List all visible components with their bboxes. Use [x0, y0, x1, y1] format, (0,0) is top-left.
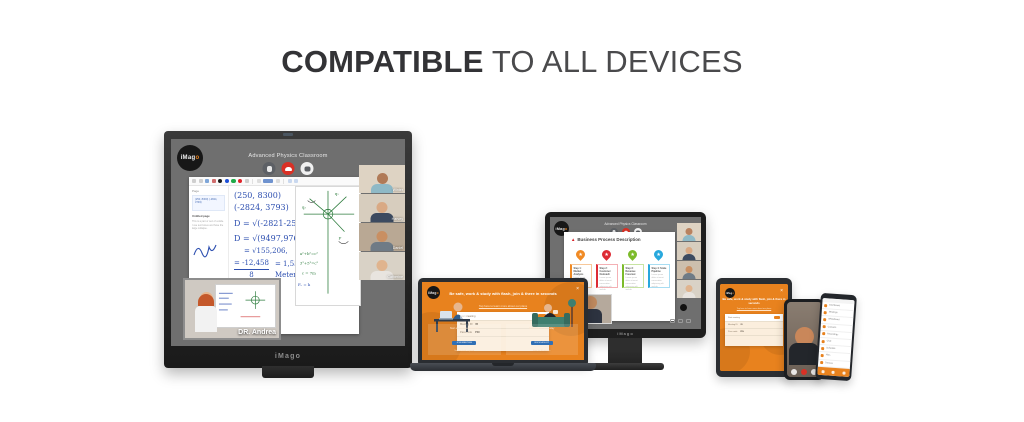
- promo-page[interactable]: iMago × Be safe, work & study with flash…: [720, 284, 788, 371]
- pages-label: Page: [192, 189, 225, 193]
- calls-icon[interactable]: [832, 370, 835, 373]
- search-row[interactable]: Start meeting: [725, 314, 783, 322]
- list-item-label: Recordings: [827, 333, 838, 336]
- page-title: COMPATIBLE TO ALL DEVICES: [0, 44, 1024, 80]
- laptop-lid: iMago × Be safe, work & study with flash…: [418, 278, 588, 364]
- list-item-label: Files: [826, 355, 831, 357]
- toolbar-divider-2: [283, 179, 284, 184]
- passcode-value: PIN: [740, 331, 743, 333]
- laptop-screen[interactable]: iMago × Be safe, work & study with flash…: [422, 282, 584, 360]
- meeting-form[interactable]: Start meeting Meeting ID ID Pass code PI…: [725, 314, 783, 346]
- step-heading: Step 2: Customer Outreach: [600, 267, 615, 276]
- process-step[interactable]: ★ Step 4: Scale Pipeline Lorem ipsum dol…: [648, 248, 670, 288]
- select-icon[interactable]: [192, 179, 196, 183]
- display-meeting-title: Advanced Physics Classroom: [171, 153, 405, 159]
- svg-text:q₂: q₂: [302, 204, 306, 209]
- display-camera-icon: [283, 133, 293, 136]
- caller-figure: [789, 327, 819, 365]
- svg-text:c = 7m: c = 7m: [302, 270, 316, 275]
- cta-note: No download required: [431, 350, 498, 352]
- note-line-6: = -12,458: [234, 258, 269, 269]
- participant-name: Daniel: [393, 246, 403, 250]
- cta-card[interactable]: Schedule for later today BOOK A SLOT Fre…: [506, 324, 579, 355]
- monitor-brand-text: iMago: [617, 331, 634, 336]
- monitor-stand: [608, 337, 642, 365]
- tablet-screen[interactable]: iMago × Be safe, work & study with flash…: [720, 284, 788, 371]
- color-black-icon[interactable]: [218, 179, 222, 183]
- slide-title: ▲Business Process Description: [564, 232, 675, 242]
- page-title-light: TO ALL DEVICES: [484, 44, 743, 79]
- color-blue-icon[interactable]: [225, 179, 229, 183]
- list-item-label: Whiteboard: [828, 319, 839, 322]
- display-screen[interactable]: iMago Advanced Physics Classroom: [171, 139, 405, 346]
- presenter-name: DR. Andrea: [238, 329, 276, 336]
- brand-logo-text: iMag: [556, 227, 565, 231]
- presenter-board: [215, 284, 276, 328]
- list-item-label: Contacts: [828, 326, 837, 329]
- participant-tile[interactable]: Harvey: [359, 194, 405, 222]
- copy-icon[interactable]: [294, 179, 298, 183]
- step-pin-icon: ★: [597, 245, 615, 263]
- item-icon: [821, 354, 824, 357]
- participant-name: Winter: [393, 188, 403, 192]
- brand-logo-accent: o: [565, 227, 568, 231]
- step-pin-icon: ★: [649, 245, 667, 263]
- display-brand-footer: iMago: [171, 348, 405, 364]
- list-item-label: Dashboard: [829, 305, 840, 308]
- cta-button[interactable]: JOIN MEETING: [452, 341, 476, 345]
- meeting-id-label: Meeting ID: [728, 324, 738, 326]
- list-item-label: Meetings: [829, 312, 838, 315]
- whiteboard-toolbar[interactable]: [189, 177, 359, 186]
- presenter-figure: [193, 292, 219, 338]
- promo-headline: Be safe, work & study with flash, join &…: [720, 297, 788, 305]
- page-title-strong: COMPATIBLE: [281, 44, 483, 79]
- phone-list-device[interactable]: Dashboard Meetings Whiteboard Contacts R…: [815, 293, 857, 381]
- monitor-participant-rail[interactable]: [677, 223, 701, 299]
- page-hint: This is a part or text of a slide. I use…: [192, 220, 225, 231]
- page-thumbnail[interactable]: (250, 8300) (-2824, 3793): [192, 195, 225, 211]
- item-icon: [823, 325, 826, 328]
- participant-tile[interactable]: Daniel: [359, 223, 405, 251]
- end-call-icon[interactable]: [282, 162, 295, 175]
- end-call-icon[interactable]: [801, 369, 807, 375]
- toolbar-divider: [252, 179, 253, 184]
- link-icon[interactable]: [199, 179, 203, 183]
- microphone-icon[interactable]: [263, 162, 276, 175]
- participant-tile[interactable]: [677, 280, 701, 298]
- item-icon: [822, 340, 825, 343]
- svg-text:q₁: q₁: [335, 191, 339, 196]
- participant-tile[interactable]: Catherine: [359, 252, 405, 280]
- item-icon: [821, 347, 824, 350]
- participant-rail[interactable]: Winter Harvey Daniel Catherine: [359, 165, 405, 281]
- svg-text:F: F: [339, 235, 342, 240]
- cta-card[interactable]: Start a secure session now JOIN MEETING …: [428, 324, 501, 355]
- page-name[interactable]: Untitled page: [192, 214, 225, 218]
- item-icon: [824, 304, 827, 307]
- cta-button[interactable]: BOOK A SLOT: [531, 341, 553, 345]
- marker-icon[interactable]: [212, 179, 216, 183]
- go-button[interactable]: [774, 316, 780, 319]
- tablet-device[interactable]: iMago × Be safe, work & study with flash…: [716, 278, 792, 377]
- display-stand: [262, 366, 314, 378]
- participant-tile[interactable]: [677, 223, 701, 241]
- attach-icon[interactable]: [288, 179, 292, 183]
- process-step[interactable]: ★ Step 2: Customer Outreach Lorem ipsum …: [596, 248, 618, 288]
- sidebar-sketch-icon: [192, 235, 228, 261]
- step-heading: Step 4: Scale Pipeline: [652, 267, 667, 273]
- step-body: Lorem ipsum dolor sit amet consectetur a…: [652, 274, 667, 289]
- brand-logo-text: iMag: [726, 292, 733, 295]
- more-icon[interactable]: [843, 371, 846, 374]
- cta-text: Schedule for later today: [509, 327, 576, 330]
- promo-sublink[interactable]: Tap here to learn more about our plans: [720, 308, 788, 310]
- meeting-id-value: ID: [741, 324, 743, 326]
- step-pin-icon: ★: [571, 245, 589, 263]
- logo-mark-icon: ▲: [571, 237, 575, 242]
- home-icon[interactable]: [821, 370, 824, 373]
- laptop-trackpad-notch: [492, 363, 514, 366]
- search-input[interactable]: Start meeting: [728, 317, 740, 319]
- participant-name: Harvey: [392, 217, 403, 221]
- record-indicator-icon: [680, 304, 687, 311]
- participant-tile[interactable]: [677, 261, 701, 279]
- cta-text: Start a secure session now: [431, 327, 498, 330]
- step-heading: Step 3: Revenue Forecast: [626, 267, 641, 276]
- monitor-toolbar[interactable]: [670, 319, 691, 323]
- display-call-controls[interactable]: [263, 162, 314, 175]
- step-body: Lorem ipsum dolor sit amet consectetur a…: [626, 277, 641, 292]
- share-icon[interactable]: [678, 319, 683, 323]
- more-icon[interactable]: [686, 319, 691, 323]
- passcode-label: Pass code: [728, 331, 737, 333]
- form-row[interactable]: Meeting ID ID: [725, 322, 783, 329]
- presenter-video-inset[interactable]: DR. Andrea: [183, 278, 281, 340]
- item-icon: [823, 318, 826, 321]
- participant-tile[interactable]: [677, 242, 701, 260]
- stroke-width-icon[interactable]: [263, 179, 273, 183]
- brand-logo-accent: o: [732, 292, 734, 295]
- color-red-icon[interactable]: [238, 179, 242, 183]
- list-item-label: Schedule: [826, 348, 835, 351]
- chat-icon[interactable]: [301, 162, 314, 175]
- item-icon: [822, 332, 825, 335]
- process-step[interactable]: ★ Step 3: Revenue Forecast Lorem ipsum d…: [622, 248, 644, 288]
- promo-canvas: COMPATIBLE TO ALL DEVICES iMago Advanced…: [0, 0, 1024, 422]
- svg-text:3²+5²=c²: 3²+5²=c²: [300, 261, 319, 266]
- board-sketch-icon: [216, 285, 275, 327]
- item-icon: [824, 311, 827, 314]
- form-row[interactable]: Pass code PIN: [725, 329, 783, 336]
- svg-text:Fₑ = k: Fₑ = k: [298, 282, 311, 287]
- vector-diagram-icon: q₁q₂ Fa²+b²=c² 3²+5²=c²c = 7m Fₑ = k: [296, 187, 360, 303]
- plus-icon[interactable]: [276, 179, 280, 183]
- promo-cta-group[interactable]: Start a secure session now JOIN MEETING …: [428, 324, 578, 355]
- participant-name: Catherine: [387, 275, 403, 279]
- close-icon[interactable]: ×: [780, 288, 783, 294]
- microphone-icon[interactable]: [791, 369, 797, 375]
- promo-page[interactable]: iMago × Be safe, work & study with flash…: [422, 282, 584, 360]
- step-pin-icon: ★: [623, 245, 641, 263]
- cta-note: Free for 40 minutes: [509, 350, 576, 352]
- step-body: Lorem ipsum dolor sit amet consectetur a…: [600, 277, 615, 292]
- svg-text:a²+b²=c²: a²+b²=c²: [300, 251, 318, 256]
- minus-icon[interactable]: [257, 179, 261, 183]
- list-item-label: Chat: [827, 340, 832, 342]
- pen-icon[interactable]: [205, 179, 209, 183]
- layout-icon[interactable]: [670, 319, 675, 323]
- laptop-device[interactable]: iMago × Be safe, work & study with flash…: [410, 278, 596, 374]
- color-green-icon[interactable]: [231, 179, 235, 183]
- list-item-label: Devices: [825, 362, 833, 365]
- eraser-icon[interactable]: [245, 179, 249, 183]
- step-heading: Step 1: Market Analysis: [574, 267, 589, 276]
- participant-tile[interactable]: Winter: [359, 165, 405, 193]
- interactive-display-device[interactable]: iMago Advanced Physics Classroom: [164, 131, 412, 368]
- physics-diagram-inset[interactable]: q₁q₂ Fa²+b²=c² 3²+5²=c²c = 7m Fₑ = k: [295, 186, 361, 306]
- monitor-base: [586, 363, 664, 370]
- phone2-screen[interactable]: Dashboard Meetings Whiteboard Contacts R…: [817, 298, 854, 377]
- item-icon: [820, 361, 823, 364]
- slide-title-text: Business Process Description: [577, 237, 640, 242]
